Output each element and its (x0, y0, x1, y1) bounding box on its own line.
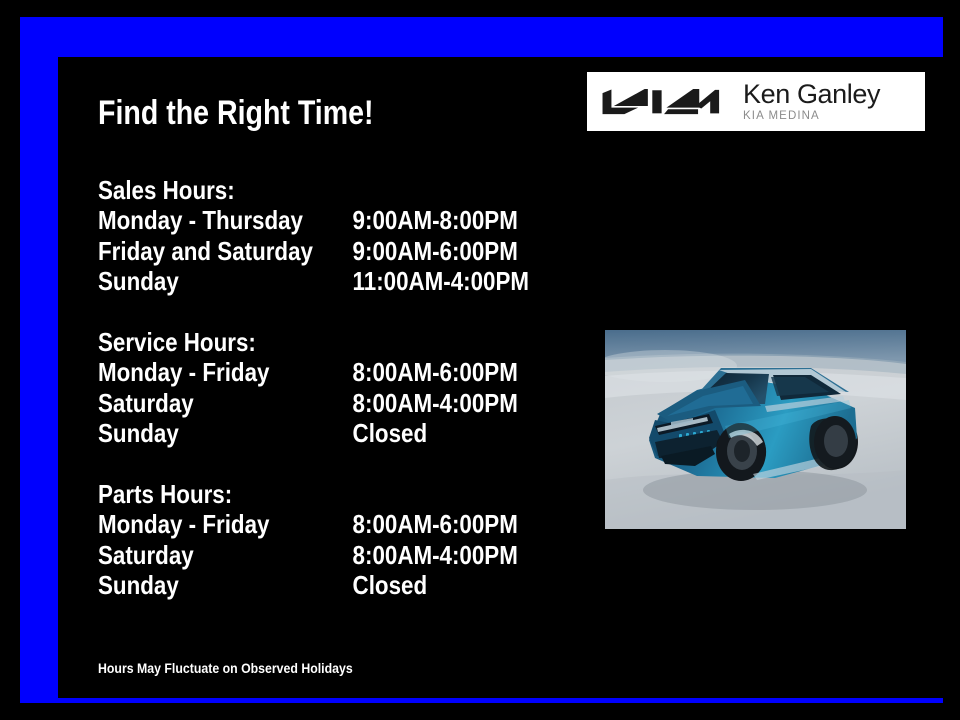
parts-hours-block: Parts Hours: Monday - Friday8:00AM-6:00P… (98, 479, 578, 601)
day-label: Monday - Friday (98, 509, 353, 539)
vehicle-photo-illustration (605, 330, 906, 529)
hours-row: Monday - Thursday9:00AM-8:00PM (98, 205, 511, 235)
day-label: Sunday (98, 418, 353, 448)
time-value: 9:00AM-6:00PM (353, 236, 518, 266)
day-label: Friday and Saturday (98, 236, 353, 266)
day-label: Monday - Friday (98, 357, 353, 387)
day-label: Saturday (98, 540, 353, 570)
kia-logo-icon (599, 85, 721, 119)
time-value: 8:00AM-4:00PM (353, 540, 518, 570)
time-value: 8:00AM-4:00PM (353, 388, 518, 418)
hours-row: SundayClosed (98, 570, 511, 600)
hours-row: Sunday11:00AM-4:00PM (98, 266, 511, 296)
time-value: Closed (353, 570, 428, 600)
time-value: 8:00AM-6:00PM (353, 509, 518, 539)
parts-hours-heading: Parts Hours: (98, 479, 511, 509)
vehicle-photo (605, 330, 906, 529)
service-hours-block: Service Hours: Monday - Friday8:00AM-6:0… (98, 327, 578, 449)
dealer-logo-panel: Ken Ganley KIA MEDINA (587, 72, 925, 131)
hours-row: Monday - Friday8:00AM-6:00PM (98, 357, 511, 387)
day-label: Sunday (98, 570, 353, 600)
blue-border-frame: Find the Right Time! Sales Hours: Monday… (20, 17, 943, 703)
time-value: 8:00AM-6:00PM (353, 357, 518, 387)
time-value: Closed (353, 418, 428, 448)
dealer-subtitle: KIA MEDINA (743, 111, 880, 123)
hours-row: Saturday8:00AM-4:00PM (98, 388, 511, 418)
hours-row: Friday and Saturday9:00AM-6:00PM (98, 236, 511, 266)
sales-hours-block: Sales Hours: Monday - Thursday9:00AM-8:0… (98, 175, 578, 297)
page-title: Find the Right Time! (98, 94, 374, 133)
day-label: Saturday (98, 388, 353, 418)
service-hours-heading: Service Hours: (98, 327, 511, 357)
sales-hours-heading: Sales Hours: (98, 175, 511, 205)
time-value: 11:00AM-4:00PM (353, 266, 529, 296)
dealer-name: Ken Ganley (743, 81, 880, 108)
day-label: Sunday (98, 266, 353, 296)
hours-row: Saturday8:00AM-4:00PM (98, 540, 511, 570)
dealer-name-group: Ken Ganley KIA MEDINA (743, 81, 880, 123)
footer-disclaimer: Hours May Fluctuate on Observed Holidays (98, 660, 353, 676)
day-label: Monday - Thursday (98, 205, 353, 235)
slide-canvas: Find the Right Time! Sales Hours: Monday… (0, 0, 960, 720)
hours-row: Monday - Friday8:00AM-6:00PM (98, 509, 511, 539)
hours-row: SundayClosed (98, 418, 511, 448)
time-value: 9:00AM-8:00PM (353, 205, 518, 235)
slide-content-area: Find the Right Time! Sales Hours: Monday… (58, 57, 945, 698)
